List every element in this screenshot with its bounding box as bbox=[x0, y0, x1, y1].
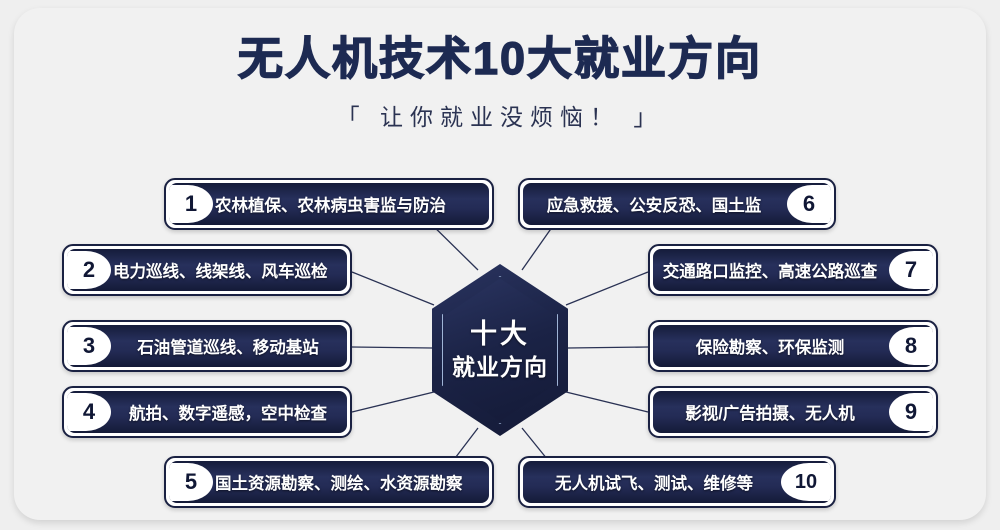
item-box-4-body: 航拍、数字遥感，空中检查 4 bbox=[67, 391, 347, 433]
infographic-canvas: 无人机技术10大就业方向 「 让你就业没烦恼！ 」 农林植保、农林病虫害监与防治… bbox=[0, 0, 1000, 530]
item-number-3: 3 bbox=[67, 327, 111, 365]
item-number-7: 7 bbox=[889, 251, 933, 289]
item-box-9[interactable]: 影视/广告拍摄、无人机 9 bbox=[648, 386, 938, 438]
item-box-3[interactable]: 石油管道巡线、移动基站 3 bbox=[62, 320, 352, 372]
connector-line-2 bbox=[352, 272, 434, 305]
item-box-9-body: 影视/广告拍摄、无人机 9 bbox=[653, 391, 933, 433]
item-number-10: 10 bbox=[781, 463, 831, 501]
item-number-2: 2 bbox=[67, 251, 111, 289]
item-box-10[interactable]: 无人机试飞、测试、维修等 10 bbox=[518, 456, 836, 508]
center-hexagon: 十大 就业方向 bbox=[432, 264, 568, 436]
connector-line-8 bbox=[568, 347, 648, 348]
item-number-9: 9 bbox=[889, 393, 933, 431]
item-label-6: 应急救援、公安反恐、国土监 bbox=[523, 192, 831, 216]
connector-line-7 bbox=[566, 272, 648, 305]
item-box-2-body: 电力巡线、线架线、风车巡检 2 bbox=[67, 249, 347, 291]
item-box-10-body: 无人机试飞、测试、维修等 10 bbox=[523, 461, 831, 503]
item-box-7-body: 交通路口监控、高速公路巡查 7 bbox=[653, 249, 933, 291]
item-box-2[interactable]: 电力巡线、线架线、风车巡检 2 bbox=[62, 244, 352, 296]
connector-line-3 bbox=[352, 347, 432, 348]
hexagon-line-1: 十大 bbox=[470, 319, 530, 351]
item-box-4[interactable]: 航拍、数字遥感，空中检查 4 bbox=[62, 386, 352, 438]
item-box-1[interactable]: 农林植保、农林病虫害监与防治 1 bbox=[164, 178, 494, 230]
connector-line-9 bbox=[566, 392, 648, 412]
item-box-8-body: 保险勘察、环保监测 8 bbox=[653, 325, 933, 367]
item-box-5-body: 国土资源勘察、测绘、水资源勘察 5 bbox=[169, 461, 489, 503]
item-label-1: 农林植保、农林病虫害监与防治 bbox=[169, 192, 489, 216]
item-box-7[interactable]: 交通路口监控、高速公路巡查 7 bbox=[648, 244, 938, 296]
item-box-3-body: 石油管道巡线、移动基站 3 bbox=[67, 325, 347, 367]
item-number-8: 8 bbox=[889, 327, 933, 365]
item-number-4: 4 bbox=[67, 393, 111, 431]
item-box-6-body: 应急救援、公安反恐、国土监 6 bbox=[523, 183, 831, 225]
hexagon-line-2: 就业方向 bbox=[452, 354, 548, 381]
item-number-1: 1 bbox=[169, 185, 213, 223]
item-box-1-body: 农林植保、农林病虫害监与防治 1 bbox=[169, 183, 489, 225]
item-label-5: 国土资源勘察、测绘、水资源勘察 bbox=[169, 470, 489, 494]
item-box-5[interactable]: 国土资源勘察、测绘、水资源勘察 5 bbox=[164, 456, 494, 508]
item-number-5: 5 bbox=[169, 463, 213, 501]
connector-line-4 bbox=[352, 392, 434, 412]
item-box-8[interactable]: 保险勘察、环保监测 8 bbox=[648, 320, 938, 372]
item-number-6: 6 bbox=[787, 185, 831, 223]
item-box-6[interactable]: 应急救援、公安反恐、国土监 6 bbox=[518, 178, 836, 230]
hexagon-text: 十大 就业方向 bbox=[432, 264, 568, 436]
